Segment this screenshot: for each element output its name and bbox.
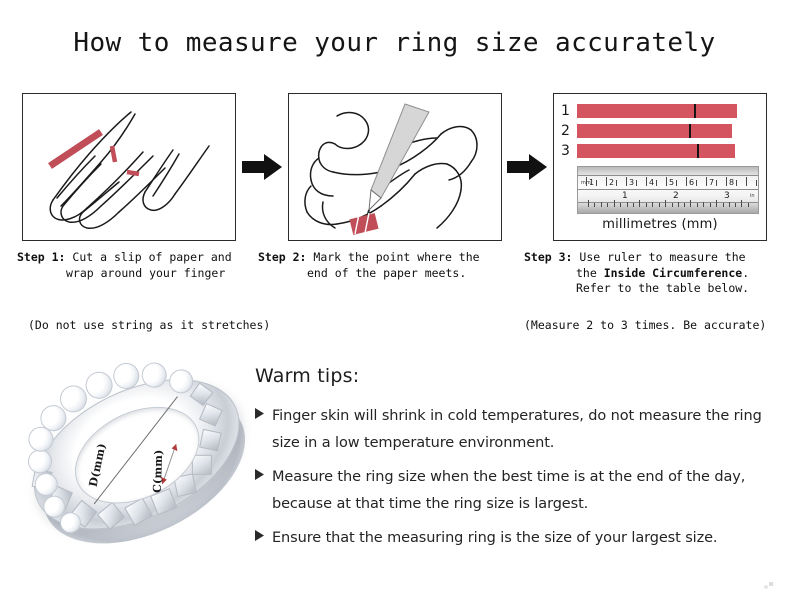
- strip-bar: [577, 104, 737, 118]
- strip-tick-mark: [689, 124, 691, 138]
- strip-number: 2: [561, 124, 577, 138]
- step-2-illustration-panel: [288, 93, 502, 241]
- strip-bar: [577, 144, 735, 158]
- right-arrow-icon: [507, 154, 547, 180]
- step-1-label: Step 1:: [17, 250, 65, 264]
- ring-diagram: D(mm) C(mm): [22, 352, 254, 567]
- paper-strips-group: 1 2 3: [561, 102, 761, 162]
- strip-row: 2: [561, 122, 761, 139]
- step-3-illustration-panel: 1 2 3: [553, 93, 767, 241]
- hand-marking-paper-with-pen-icon: [289, 94, 501, 240]
- step-2-caption: Step 2: Mark the point where the end of …: [258, 250, 498, 281]
- step-3-caption-line-3: Refer to the table below.: [524, 281, 774, 297]
- step-3-text-1: Use ruler to measure the: [579, 250, 745, 264]
- ruler-unit-caption: millimetres (mm): [554, 217, 766, 232]
- hand-with-paper-strip-icon: [23, 94, 235, 240]
- strip-tick-mark: [697, 144, 699, 158]
- triangle-bullet-icon: [255, 464, 272, 480]
- step-1-caption-line-1: Step 1: Cut a slip of paper and: [17, 250, 257, 266]
- strip-number: 3: [561, 144, 577, 158]
- corner-watermark: [764, 575, 773, 583]
- triangle-bullet-icon: [255, 403, 272, 419]
- strip-tick-mark: [694, 104, 696, 118]
- step-3-caption-line-2: the Inside Circumference.: [524, 266, 774, 282]
- strip-row: 1: [561, 102, 761, 119]
- step-3-text-2-suffix: .: [742, 266, 749, 280]
- step-1-illustration-panel: [22, 93, 236, 241]
- tip-item: Finger skin will shrink in cold temperat…: [255, 403, 775, 457]
- step-2-text-1: Mark the point where the: [313, 250, 479, 264]
- ring-facet: [199, 429, 222, 452]
- step-3-caption: Step 3: Use ruler to measure the the Ins…: [524, 250, 774, 297]
- step-3-text-2-prefix: the: [576, 266, 604, 280]
- step-2-caption-line-2: end of the paper meets.: [258, 266, 498, 282]
- step-panels-row: 1 2 3: [22, 93, 767, 241]
- strip-row: 3: [561, 142, 761, 159]
- arrow-2-container: [502, 93, 554, 241]
- step-3-caption-line-1: Step 3: Use ruler to measure the: [524, 250, 774, 266]
- strip-number: 1: [561, 104, 577, 118]
- inch-tick-marks: [578, 167, 758, 213]
- tip-text: Measure the ring size when the best time…: [272, 464, 775, 518]
- ruler-graphic: mm 1 2 3 4 5 6 7 8 1 2 3 in: [577, 166, 759, 214]
- inside-circumference-emphasis: Inside Circumference: [604, 266, 742, 280]
- tip-text: Ensure that the measuring ring is the si…: [272, 525, 717, 552]
- ring-circumference-label: C(mm): [151, 449, 166, 493]
- page-title: How to measure your ring size accurately: [0, 28, 789, 58]
- triangle-bullet-icon: [255, 525, 272, 541]
- step-1-note: (Do not use string as it stretches): [28, 318, 270, 332]
- strip-bar: [577, 124, 732, 138]
- step-3-note: (Measure 2 to 3 times. Be accurate): [524, 318, 766, 332]
- step-1-caption-line-2: wrap around your finger: [17, 266, 257, 282]
- warm-tips-title: Warm tips:: [255, 365, 775, 387]
- right-arrow-icon: [242, 154, 282, 180]
- step-3-label: Step 3:: [524, 250, 572, 264]
- warm-tips-section: Warm tips: Finger skin will shrink in co…: [255, 365, 775, 559]
- tip-item: Measure the ring size when the best time…: [255, 464, 775, 518]
- step-2-label: Step 2:: [258, 250, 306, 264]
- step-1-caption: Step 1: Cut a slip of paper and wrap aro…: [17, 250, 257, 281]
- ring-stage: D(mm) C(mm): [0, 323, 279, 590]
- step-1-text-1: Cut a slip of paper and: [72, 250, 231, 264]
- arrow-1-container: [236, 93, 288, 241]
- tip-text: Finger skin will shrink in cold temperat…: [272, 403, 775, 457]
- tip-item: Ensure that the measuring ring is the si…: [255, 525, 775, 552]
- step-2-caption-line-1: Step 2: Mark the point where the: [258, 250, 498, 266]
